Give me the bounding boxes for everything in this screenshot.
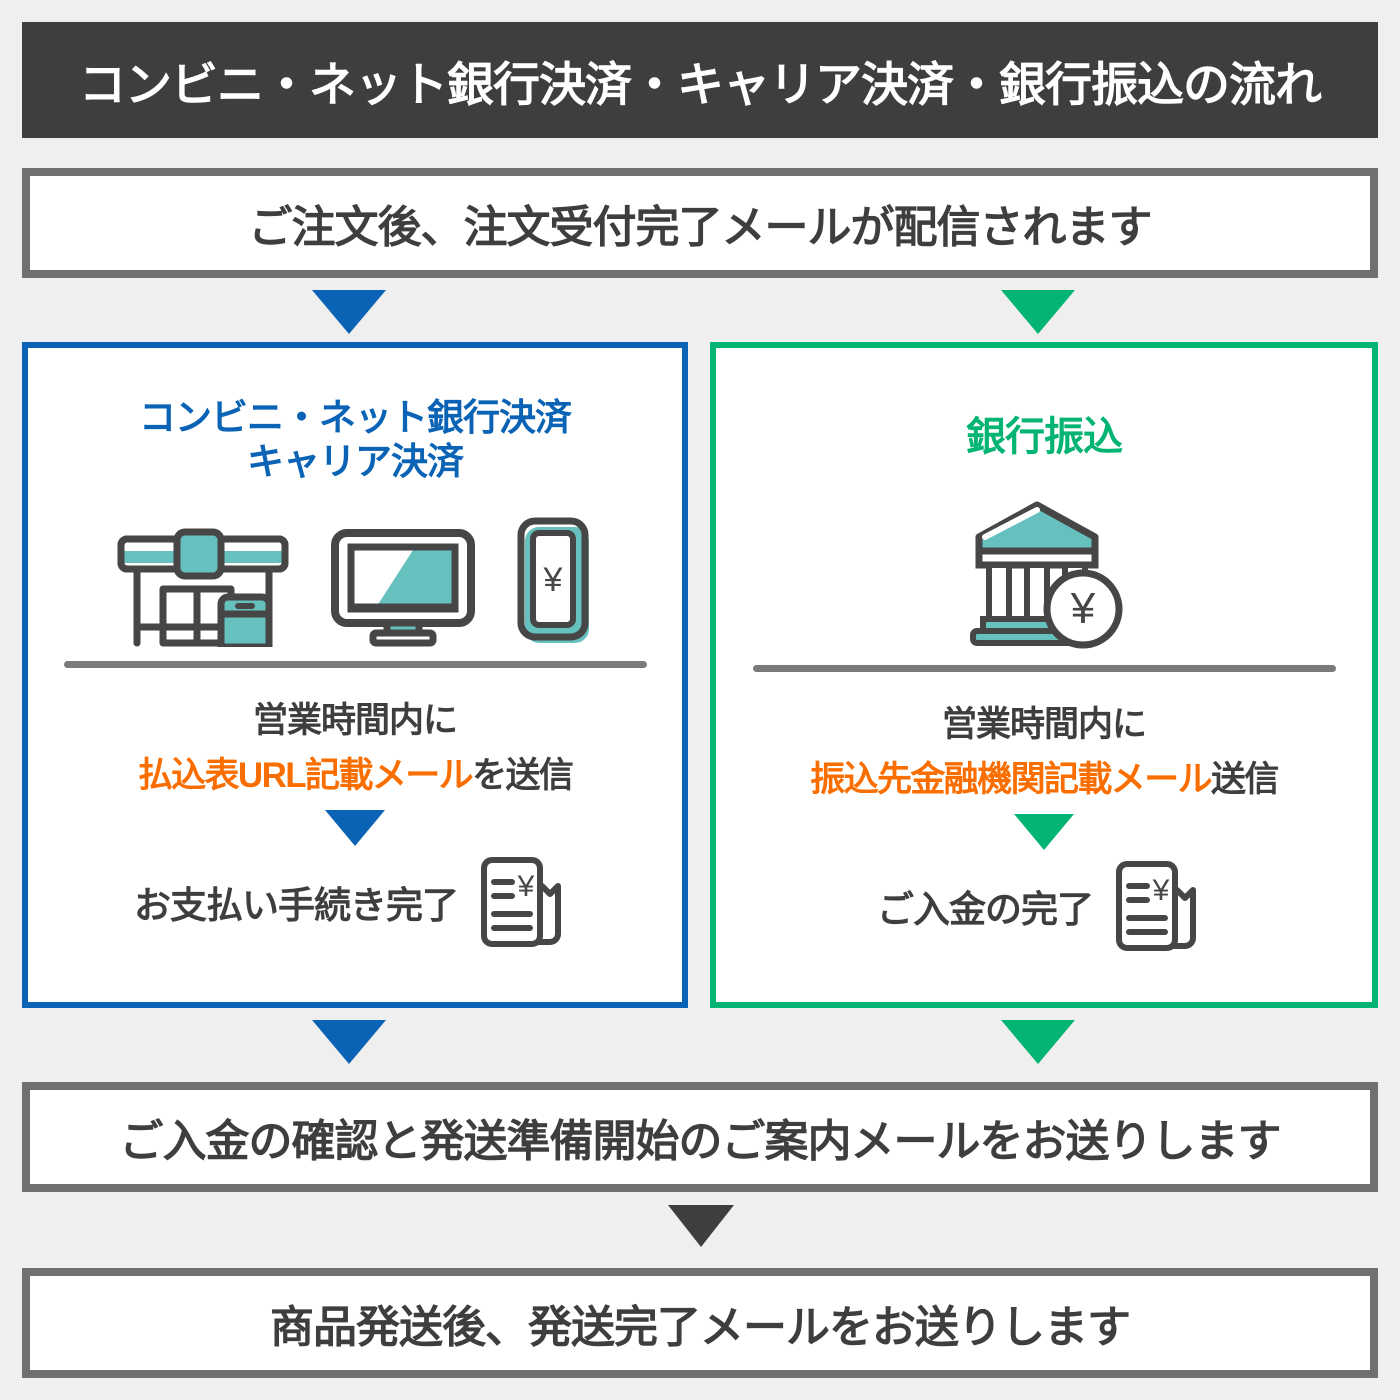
konbini-notice-line2: 払込表URL記載メールを送信 [28,747,682,798]
step-shipped-label: 商品発送後、発送完了メールをお送りします [270,1291,1130,1355]
down-arrow-to-konbini-icon [312,290,386,334]
smartphone-yen-icon: ¥ [515,515,595,647]
monitor-icon [329,527,477,647]
step-box-payment-confirmed: ご入金の確認と発送準備開始のご案内メールをお送りします [22,1082,1378,1192]
panel-konbini-payment: コンビニ・ネット銀行決済 キャリア決済 [22,342,688,1008]
svg-text:¥: ¥ [1152,874,1170,907]
svg-text:¥: ¥ [543,561,563,599]
step-box-order-received: ご注文後、注文受付完了メールが配信されます [22,168,1378,278]
svg-text:¥: ¥ [1070,584,1096,633]
furikomi-notice-highlight: 振込先金融機関記載メール [810,760,1211,799]
konbini-inner-arrow-wrap [28,810,682,846]
konbini-notice-suffix: を送信 [472,756,572,795]
down-arrow-to-furikomi-icon [1001,290,1075,334]
panel-furikomi-title-line1: 銀行振込 [716,414,1372,461]
konbini-notice-line1: 営業時間内に [28,692,682,743]
bank-yen-icon: ¥ [961,501,1127,651]
down-arrow-konbini-to-confirm-icon [312,1020,386,1064]
furikomi-inner-arrow-wrap [716,814,1372,850]
konbini-completion-row: お支払い手続き完了 ¥ [28,854,682,950]
furikomi-divider [753,665,1336,672]
page-title: コンビニ・ネット銀行決済・キャリア決済・銀行振込の流れ [79,46,1321,115]
konbini-divider [64,661,647,668]
panel-konbini-title: コンビニ・ネット銀行決済 キャリア決済 [28,396,682,483]
panel-konbini-title-line2: キャリア決済 [28,440,682,484]
invoice-yen-icon: ¥ [472,854,576,950]
svg-text:¥: ¥ [517,870,535,903]
furikomi-icon-row: ¥ [716,501,1372,651]
panel-bank-transfer: 銀行振込 ¥ [710,342,1378,1008]
down-arrow-konbini-inner-icon [325,810,385,846]
furikomi-notice-line1: 営業時間内に [716,696,1372,747]
konbini-completion-label: お支払い手続き完了 [134,875,458,929]
panel-furikomi-title: 銀行振込 [716,414,1372,461]
furikomi-completion-row: ご入金の完了 ¥ [716,858,1372,954]
down-arrow-furikomi-to-confirm-icon [1001,1020,1075,1064]
diagram-title-bar: コンビニ・ネット銀行決済・キャリア決済・銀行振込の流れ [22,22,1378,138]
invoice-yen-icon: ¥ [1107,858,1211,954]
down-arrow-confirm-to-shipped-icon [668,1205,734,1247]
step-order-label: ご注文後、注文受付完了メールが配信されます [249,191,1152,255]
konbini-icon-row: ¥ [28,497,682,647]
down-arrow-furikomi-inner-icon [1014,814,1074,850]
furikomi-completion-label: ご入金の完了 [877,879,1093,933]
furikomi-notice-suffix: 送信 [1211,760,1278,799]
payment-flow-diagram: コンビニ・ネット銀行決済・キャリア決済・銀行振込の流れ ご注文後、注文受付完了メ… [0,0,1400,1400]
panel-konbini-title-line1: コンビニ・ネット銀行決済 [28,396,682,440]
storefront-icon [115,527,291,647]
furikomi-notice-line2: 振込先金融機関記載メール送信 [716,751,1372,802]
step-box-shipment-complete: 商品発送後、発送完了メールをお送りします [22,1268,1378,1378]
konbini-notice-highlight: 払込表URL記載メール [138,756,472,795]
step-confirm-label: ご入金の確認と発送準備開始のご案内メールをお送りします [120,1105,1281,1169]
